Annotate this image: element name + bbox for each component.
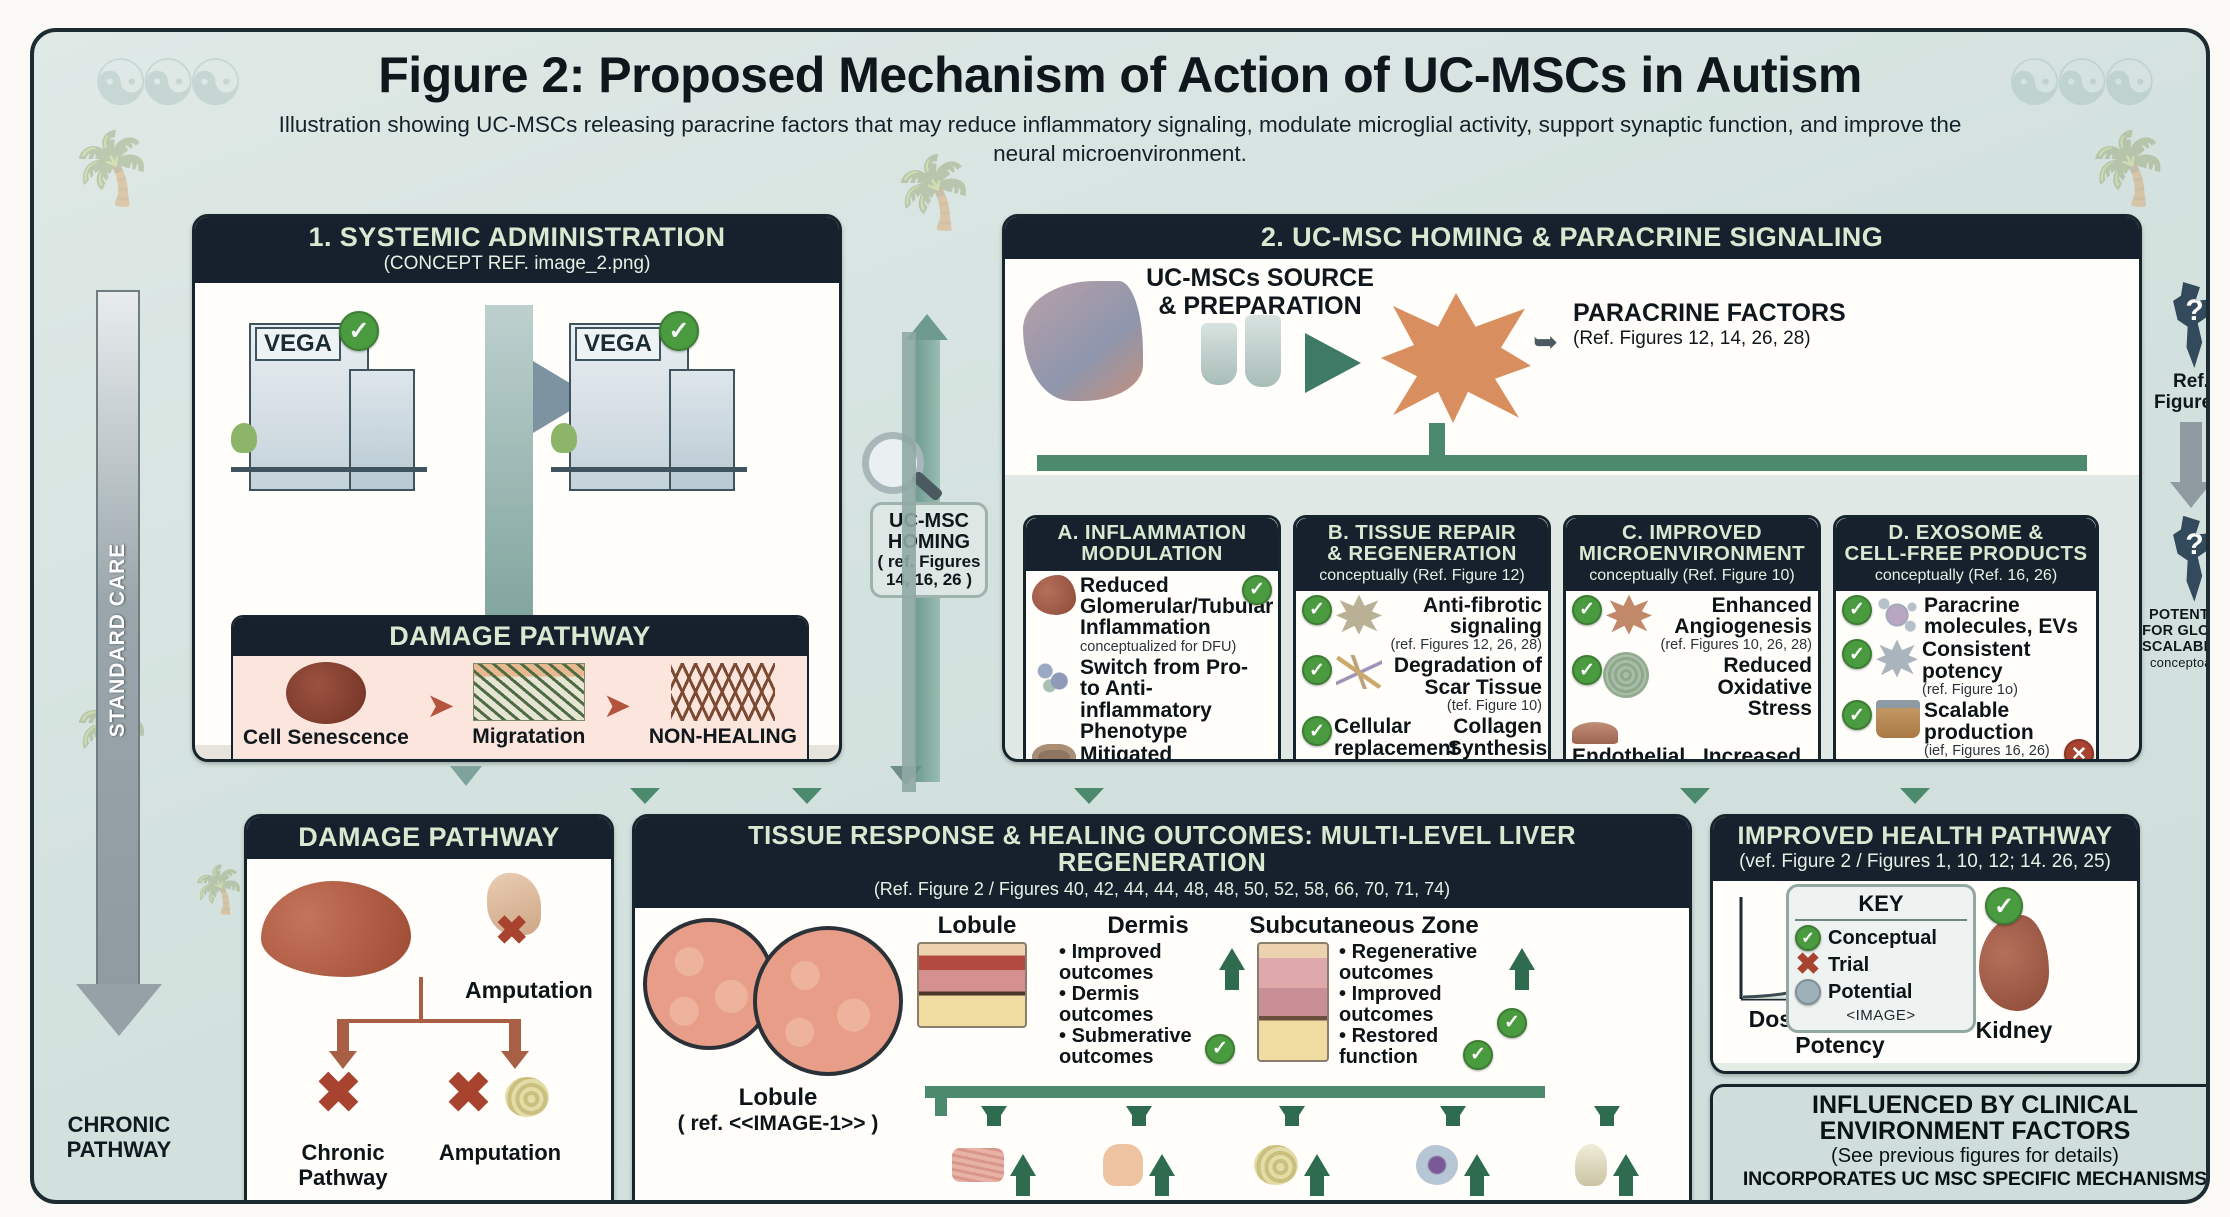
card-item: ✓ Consistent potency (ref. Figure 1o) [1842, 639, 2090, 698]
influence-line3: (See previous figures for details) [1721, 1145, 2210, 1168]
nonhealing-vessel-icon [671, 663, 775, 721]
conceptual-check-badge: ✓ [1842, 700, 1872, 730]
figure-frame: ☯☯☯ ☯☯☯ 🌴 🌴 🌴 🌴 🌴 Figure 2: Proposed Mec… [30, 28, 2210, 1204]
card-item: Switch from Pro- to Anti-inflammatory Ph… [1032, 657, 1272, 743]
homing-side-connector [902, 332, 916, 792]
endothelium-icon [1572, 722, 1618, 744]
outcome-item: Reduced Sensation [1076, 1106, 1203, 1204]
trial-x-icon: ✖ [445, 1071, 492, 1116]
damage-pathway-card-header: DAMAGE PATHWAY [233, 617, 807, 655]
panel-health-header: IMPROVED HEALTH PATHWAY (vef. Figure 2 /… [1713, 817, 2137, 881]
conceptual-check-badge: ✓ [1842, 595, 1872, 625]
amputation-outcome-label: Amputation [425, 1141, 575, 1165]
bullet-item: • Improved outcomes [1059, 942, 1209, 984]
rail-ref-line1: Ref. [2140, 372, 2210, 393]
panel-systemic-administration-header: 1. SYSTEMIC ADMINISTRATION (CONCEPT REF.… [195, 217, 839, 283]
flow-arrow-down [450, 766, 482, 786]
distribution-stem [1429, 423, 1445, 459]
panel-title: TISSUE RESPONSE & HEALING OUTCOMES: MULT… [641, 823, 1683, 877]
card-item-sub: (ref. Figure 1o) [1922, 682, 2090, 698]
key-row-conceptual: ✓ Conceptual [1795, 925, 1967, 951]
panel-subtitle: (Ref. Figure 2 / Figures 40, 42, 44, 44,… [641, 879, 1683, 900]
panel-title: 1. SYSTEMIC ADMINISTRATION [201, 223, 833, 251]
bullet-item: • Regenerative outcomes [1339, 942, 1499, 984]
hospital-right: VEGA ✓ [551, 305, 747, 491]
influence-line1: INFLUENCED BY CLINICAL [1721, 1092, 2210, 1118]
card-tissue-repair: B. TISSUE REPAIR & REGENERATION conceptu… [1293, 515, 1551, 762]
key-label: Trial [1828, 954, 1869, 977]
conceptual-check-badge: ✓ [1205, 1034, 1235, 1064]
paracrine-factors-label: PARACRINE FACTORS [1573, 299, 1846, 328]
exosome-cluster-icon [1876, 595, 1920, 635]
up-arrow-icon [1304, 1154, 1330, 1176]
conceptual-check-badge: ✓ [1497, 1008, 1527, 1038]
flow-arrow-down-icon [1440, 1106, 1466, 1126]
bottle-icon [1245, 315, 1281, 387]
card-body: ✓ Anti-fibrotic signaling (ref. Figures … [1296, 591, 1548, 762]
card-item: Mitigated Inflammation (ref. Figures 12,… [1032, 744, 1272, 762]
column-header-subcutaneous: Subcutaneous Zone [1239, 912, 1489, 940]
rail-arrow-head [2170, 482, 2210, 508]
senescent-cell-icon [1416, 1145, 1458, 1185]
standard-care-arrow: STANDARD CARE [96, 290, 140, 990]
rail-global-line3: SCALABILITY [2140, 640, 2210, 656]
panel-influence-factors: INFLUENCED BY CLINICAL ENVIRONMENT FACTO… [1710, 1084, 2210, 1204]
card-title-line2: MICROENVIRONMENT [1569, 543, 1815, 564]
flow-arrow-down [792, 788, 822, 804]
flow-arrow-down [1074, 788, 1104, 804]
card-item-text: Collagen Synthesis [1448, 716, 1547, 759]
rail-arrow-shaft [2180, 422, 2202, 482]
bullet-item: • Submerative outcomes [1059, 1026, 1209, 1068]
mesenchymal-stem-cell-icon [1381, 293, 1531, 423]
key-label: Potential [1828, 981, 1912, 1004]
flow-arrow-vertical [485, 305, 533, 635]
trial-x-icon: ✖ [495, 915, 529, 947]
bioreactor-icon [1876, 700, 1920, 738]
card-title-line2: MODULATION [1029, 543, 1275, 564]
panel-title: DAMAGE PATHWAY [253, 823, 605, 851]
conceptual-check-badge: ✓ [1302, 716, 1332, 746]
card-header: A. INFLAMMATION MODULATION [1026, 518, 1278, 571]
card-item-text: Cellular replacement [1334, 716, 1446, 759]
palm-tree-icon: 🌴 [190, 862, 247, 917]
figure-subtitle: Illustration showing UC-MSCs releasing p… [274, 110, 1966, 169]
liver-lobule-zoom-icon [753, 926, 903, 1076]
card-subtitle: conceptually (Ref. Figure 12) [1299, 567, 1545, 585]
step-arrow-icon: ➤ [603, 689, 632, 723]
damage-pathway-card: DAMAGE PATHWAY Cell Senescence ➤ Migrata… [231, 615, 809, 762]
up-arrow-icon [1149, 1154, 1175, 1176]
migration-tissue-icon [473, 663, 585, 721]
up-arrow-icon [1010, 1154, 1036, 1176]
card-improved-microenvironment: C. IMPROVED MICROENVIRONMENT conceptuall… [1563, 515, 1821, 762]
card-subtitle: conceptually (Ref. Figure 10) [1569, 567, 1815, 585]
dermis-bullets: • Improved outcomes • Dermis outcomes • … [1059, 942, 1209, 1069]
source-prep-label: UC-MSCs SOURCE & PREPARATION [1135, 265, 1385, 320]
liver-icon [261, 881, 411, 977]
damage-pathway-steps: Cell Senescence ➤ Migratation ➤ NON-HEAL… [233, 656, 807, 758]
card-subtitle: conceptually (Ref. 16, 26) [1839, 567, 2093, 585]
card-title-line1: D. EXOSOME & [1839, 522, 2093, 543]
up-arrow-icon [1464, 1154, 1490, 1176]
card-item: ✓ Scalable production (ief, Figures 16, … [1842, 700, 2090, 759]
card-item [1572, 722, 1812, 744]
card-item: ✓ Paracrine molecules, EVs [1842, 595, 2090, 638]
step-arrow-icon: ➤ [426, 689, 455, 723]
amputation-label-top: Amputation [465, 977, 593, 1004]
key-row-potential: Potential [1795, 979, 1967, 1005]
damage-step: Migratation [472, 663, 585, 749]
card-item-text: Scalable production [1924, 700, 2090, 743]
conceptual-check-badge: ✓ [1242, 575, 1272, 605]
lobule-caption: Lobule ( ref. <<IMAGE-1>> ) [653, 1084, 903, 1136]
standard-care-arrowhead [76, 984, 162, 1036]
panel-tissue-response: TISSUE RESPONSE & HEALING OUTCOMES: MULT… [632, 814, 1692, 1204]
homing-tag-line3: ( ref. Figures [875, 553, 983, 571]
homing-top-area: UC-MSCs SOURCE & PREPARATION ➥ PARACRINE… [1005, 259, 2142, 475]
key-note: <IMAGE> [1795, 1007, 1967, 1024]
card-title-line2: CELL-FREE PRODUCTS [1839, 543, 2093, 564]
card-body: ✓ Paracrine molecules, EVs ✓ Consistent … [1836, 591, 2096, 762]
tree-icon [231, 423, 257, 453]
card-exosome-cellfree: D. EXOSOME & CELL-FREE PRODUCTS conceptu… [1833, 515, 2099, 762]
thailand-map-question-icon: ? [2163, 516, 2210, 602]
rail-global-line4: conceptoaally [2140, 656, 2210, 670]
outcome-row: Tissue Atrophy Reduced Sensation [931, 1106, 1671, 1204]
uc-msc-homing-tag: UC-MSC HOMING ( ref. Figures 14, 16, 26 … [870, 502, 988, 598]
collagen-fibers-icon [1336, 655, 1382, 689]
trial-x-icon: ✖ [315, 1071, 362, 1116]
damage-step: Cell Senescence [243, 662, 409, 750]
damage-step: NON-HEALING [649, 663, 797, 749]
hospital-left: VEGA ✓ [231, 305, 427, 491]
card-title-line1: C. IMPROVED [1569, 522, 1815, 543]
fork-stem [419, 977, 423, 1021]
column-header-lobule: Lobule [897, 912, 1057, 940]
panel-damage-pathway: DAMAGE PATHWAY ✖ Amputation ✖ ✖ Chronic … [244, 814, 614, 1204]
kidney-icon [1979, 915, 2049, 1011]
card-item: ✓ Reduced Oxidative Stress [1572, 655, 1812, 719]
lightbulb-icon [1575, 1144, 1607, 1186]
flow-arrow-down-icon [1594, 1106, 1620, 1126]
panel-damage-pathway-body: ✖ Amputation ✖ ✖ Chronic Pathway Amputat… [247, 859, 611, 1204]
card-title-line1: B. TISSUE REPAIR [1299, 522, 1545, 543]
macrophage-cells-icon [1032, 657, 1076, 697]
card-header: D. EXOSOME & CELL-FREE PRODUCTS conceptu… [1836, 518, 2096, 591]
panel-title: 2. UC-MSC HOMING & PARACRINE SIGNALING [1011, 223, 2133, 251]
thailand-map-question-icon: ? [2163, 282, 2210, 368]
tree-icon [551, 423, 577, 453]
card-item-text: Consistent potency [1922, 639, 2090, 682]
flow-arrow-down-icon [1126, 1106, 1152, 1126]
improvement-up-arrow-icon [1219, 948, 1245, 970]
fibroblast-icon [1606, 595, 1652, 635]
standard-care-label: STANDARD CARE [106, 543, 130, 738]
card-item-sub: (ref. Figures 12, 26, 28) [1386, 637, 1542, 653]
stellate-cell-icon [1336, 595, 1382, 635]
conceptual-check-badge: ✓ [339, 311, 379, 351]
outcome-item: Tissue Atrophy [931, 1106, 1058, 1204]
figure-title: Figure 2: Proposed Mechanism of Action o… [34, 46, 2206, 104]
rail-global-line1: POTENTIAL [2140, 608, 2210, 624]
card-item-text: Reduced Oxidative Stress [1650, 655, 1812, 719]
key-title: KEY [1795, 891, 1967, 921]
influence-line4: INCORPORATES UC MSC SPECIFIC MECHANISMS [1721, 1168, 2210, 1191]
kidney-glomerulus-icon [1032, 575, 1076, 615]
outcome-bus [925, 1086, 1545, 1098]
hospital-name-left: VEGA [255, 327, 341, 361]
influence-line2: ENVIRONMENT FACTORS [1721, 1118, 2210, 1144]
panel-subtitle: (vef. Figure 2 / Figures 1, 10, 12; 14. … [1719, 851, 2131, 873]
panel-tissue-response-body: Lobule ( ref. <<IMAGE-1>> ) Lobule Dermi… [635, 908, 1689, 1204]
flow-arrow-down [1680, 788, 1710, 804]
rail-ref-line2: Figure 1 [2140, 393, 2210, 414]
bullet-item: • Dermis outcomes [1059, 984, 1209, 1026]
panel-title: IMPROVED HEALTH PATHWAY [1719, 823, 2131, 849]
palm-tree-icon: 🌴 [68, 128, 155, 210]
card-header: B. TISSUE REPAIR & REGENERATION conceptu… [1296, 518, 1548, 591]
chronic-pathway-label: CHRONIC PATHWAY [44, 1112, 194, 1163]
column-header-dermis: Dermis [1063, 912, 1233, 940]
card-item-text: Degradation of Scar Tissue [1386, 655, 1542, 698]
panel-homing-paracrine: 2. UC-MSC HOMING & PARACRINE SIGNALING U… [1002, 214, 2142, 762]
card-item-text: Mitigated Inflammation [1080, 744, 1272, 762]
lobule-caption-line1: Lobule [653, 1084, 903, 1112]
card-item-sub: conceptualized for DFU) [1080, 639, 1273, 655]
inflamed-tissue-icon [1032, 744, 1076, 762]
fork-left-stem [337, 1019, 349, 1053]
flask-icon [1201, 323, 1237, 385]
outcome-item: Impeased Senescence [1381, 1106, 1524, 1204]
senescent-cell-icon [286, 662, 366, 724]
card-item-text: Paracrine molecules, EVs [1924, 595, 2090, 638]
panel-subtitle: (CONCEPT REF. image_2.png) [201, 253, 833, 275]
conceptual-check-badge: ✓ [1302, 595, 1332, 625]
card-item: ✓ Anti-fibrotic signaling (ref. Figures … [1302, 595, 1542, 654]
conceptual-check-badge: ✓ [659, 311, 699, 351]
panel-systemic-administration-body: VEGA ✓ VEGA ✓ [195, 283, 839, 745]
trial-cross-badge: ✕ [2064, 739, 2094, 762]
card-item-sub: (ref. Figures 10, 26, 28) [1656, 637, 1812, 653]
fork-right-stem [509, 1019, 521, 1053]
conceptual-check-badge: ✓ [1985, 887, 2023, 925]
secretion-arrow-icon: ➥ [1533, 325, 1558, 360]
card-title-line1: A. INFLAMMATION [1029, 522, 1275, 543]
up-arrow-icon [1613, 1154, 1639, 1176]
chronic-pathway-outcome-label: Chronic Pathway [283, 1141, 403, 1189]
lobule-caption-line2: ( ref. <<IMAGE-1>> ) [653, 1112, 903, 1136]
conceptual-check-badge: ✓ [1463, 1040, 1493, 1070]
conceptual-check-badge: ✓ [1572, 595, 1602, 625]
card-item: Endothelial Cell Support Increased Oxyge… [1572, 746, 1812, 762]
outcome-item: GFR/Auitory Meter [1542, 1106, 1671, 1204]
flow-arrow-down-icon [1279, 1106, 1305, 1126]
flow-arrow-head-right [1305, 333, 1361, 393]
improvement-up-arrow-icon [1509, 948, 1535, 970]
oxidative-particle-icon [1606, 655, 1646, 695]
card-item-text: Anti-fibrotic signaling [1386, 595, 1542, 638]
flow-arrow-down-icon [981, 1106, 1007, 1126]
conceptual-check-badge: ✓ [1842, 639, 1872, 669]
key-label: Conceptual [1828, 927, 1937, 950]
fork-right-arrow [501, 1051, 529, 1069]
panel-homing-header: 2. UC-MSC HOMING & PARACRINE SIGNALING [1005, 217, 2139, 259]
panel-systemic-administration: 1. SYSTEMIC ADMINISTRATION (CONCEPT REF.… [192, 214, 842, 762]
homing-tag-line2: HOMING [875, 532, 983, 553]
card-item-text: Enhanced Angiogenesis [1656, 595, 1812, 638]
card-title-line2: & REGENERATION [1299, 543, 1545, 564]
card-item-sub: (tef. Figure 10) [1386, 698, 1542, 714]
subcutaneous-cross-section-icon [1257, 942, 1329, 1062]
damage-pathway-title: DAMAGE PATHWAY [238, 622, 802, 650]
potential-circle-badge [1795, 979, 1821, 1005]
card-item-text: Switch from Pro- to Anti-inflammatory Ph… [1080, 657, 1272, 743]
palm-tree-icon: 🌴 [2085, 128, 2172, 210]
panel-tissue-response-header: TISSUE RESPONSE & HEALING OUTCOMES: MULT… [635, 817, 1689, 908]
hospital-name-right: VEGA [575, 327, 661, 361]
trial-x-icon: ✖ [1795, 953, 1821, 977]
key-legend: KEY ✓ Conceptual ✖ Trial Potential <IMAG… [1786, 884, 1976, 1033]
cochlea-icon [505, 1077, 549, 1117]
card-inflammation-modulation: A. INFLAMMATION MODULATION Reduced Glome… [1023, 515, 1281, 762]
bullet-item: • Improved outcomes [1339, 984, 1499, 1026]
card-body: ✓ Enhanced Angiogenesis (ref. Figures 10… [1566, 591, 1818, 762]
distribution-bus [1037, 455, 2087, 471]
flow-arrow-down [1900, 788, 1930, 804]
paracrine-factors-block: PARACRINE FACTORS (Ref. Figures 12, 14, … [1573, 299, 1846, 350]
right-rail: ? Ref. Figure 1 ? POTENTIAL FOR GLORAL S… [2140, 282, 2210, 670]
tissue-strip-icon [952, 1148, 1004, 1182]
card-item: Reduced Glomerular/Tubular Inflammation … [1032, 575, 1272, 655]
cochlea-icon [1254, 1145, 1298, 1185]
panel-damage-pathway-header: DAMAGE PATHWAY [247, 817, 611, 859]
outcome-item: GFR/Auditory Meter [1221, 1106, 1364, 1204]
key-row-trial: ✖ Trial [1795, 953, 1967, 977]
rail-global-line2: FOR GLORAL [2140, 624, 2210, 640]
homing-tag-line4: 14, 16, 26 ) [875, 571, 983, 589]
card-item-text: Endothelial Cell Support [1572, 746, 1698, 762]
card-body: Reduced Glomerular/Tubular Inflammation … [1026, 571, 1278, 762]
dermis-cross-section-icon [917, 942, 1027, 1028]
card-item: ✓ Cellular replacement Collagen Synthesi… [1302, 716, 1542, 759]
conceptual-check-badge: ✓ [1302, 655, 1332, 685]
homing-tag-line1: UC-MSC [875, 511, 983, 532]
exosome-cell-icon [1876, 639, 1918, 677]
card-item-text: Increased Oxygen Supply [1702, 746, 1802, 762]
hand-icon [1103, 1144, 1143, 1186]
card-header: C. IMPROVED MICROENVIRONMENT conceptuall… [1566, 518, 1818, 591]
card-item: ✓ Degradation of Scar Tissue (tef. Figur… [1302, 655, 1542, 714]
card-item: ✓ Enhanced Angiogenesis (ref. Figures 10… [1572, 595, 1812, 654]
flow-arrow-down [630, 788, 660, 804]
fork-bar [343, 1019, 521, 1023]
paracrine-factors-ref: (Ref. Figures 12, 14, 26, 28) [1573, 328, 1846, 350]
conceptual-check-badge: ✓ [1572, 655, 1602, 685]
umbilical-cord-icon [1023, 281, 1143, 401]
